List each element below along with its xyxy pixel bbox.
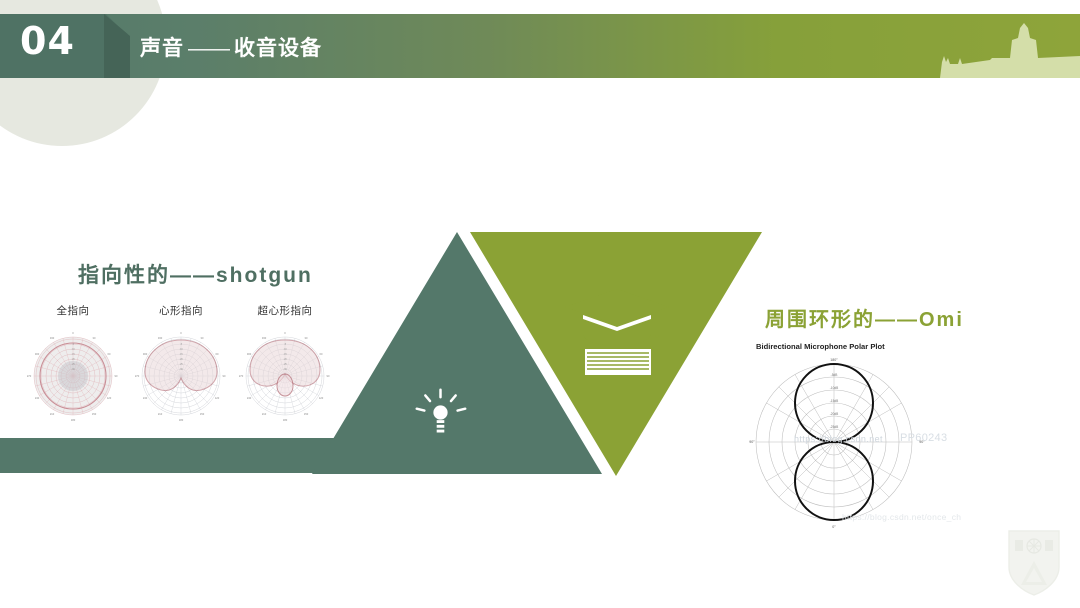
svg-text:90°: 90° (749, 440, 755, 444)
svg-text:300: 300 (35, 352, 40, 356)
svg-text:150: 150 (92, 412, 97, 416)
svg-text:-20dB: -20dB (830, 412, 839, 416)
svg-text:-15dB: -15dB (830, 399, 839, 403)
svg-text:240: 240 (35, 396, 40, 400)
svg-text:60: 60 (216, 352, 219, 356)
svg-text:330: 330 (50, 336, 55, 340)
svg-text:0: 0 (180, 331, 182, 335)
svg-text:0°: 0° (832, 525, 836, 529)
section-number: 04 (20, 19, 75, 63)
svg-text:180°: 180° (830, 358, 838, 362)
decorative-bar (0, 438, 345, 473)
left-heading: 指向性的——shotgun (78, 259, 313, 289)
svg-text:150: 150 (304, 412, 309, 416)
svg-text:60: 60 (320, 352, 323, 356)
polar-plot-cardioid: 心形指向 (126, 303, 236, 426)
svg-text:270: 270 (239, 374, 244, 378)
omnidirectional-polar-chart: 03060 90120150 180210240 270300330 -5-10… (21, 322, 125, 426)
university-shield-icon (1003, 527, 1065, 599)
svg-text:330: 330 (262, 336, 267, 340)
svg-text:-25dB: -25dB (830, 425, 839, 429)
svg-text:90: 90 (115, 374, 118, 378)
svg-text:0: 0 (72, 331, 74, 335)
svg-text:270: 270 (135, 374, 140, 378)
watermark-blog-url: https://blog.csdn.net/once_ch (842, 512, 961, 522)
svg-text:120: 120 (215, 396, 220, 400)
svg-text:120: 120 (107, 396, 112, 400)
bidirectional-chart-figure: Bidirectional Microphone Polar Plot 180°… (742, 342, 952, 537)
polar-plot-label: 全指向 (18, 303, 128, 318)
watermark-code: PP60243 (900, 432, 947, 444)
svg-text:30: 30 (201, 336, 204, 340)
svg-text:270: 270 (27, 374, 32, 378)
triangle-down-shape (470, 232, 762, 476)
svg-text:150: 150 (200, 412, 205, 416)
svg-text:210: 210 (158, 412, 163, 416)
polar-plot-label: 超心形指向 (230, 303, 340, 318)
svg-text:30: 30 (93, 336, 96, 340)
polar-plot-omnidirectional: 全指向 (18, 303, 128, 426)
svg-text:330: 330 (158, 336, 163, 340)
page-title-sub: 收音设备 (234, 37, 322, 60)
svg-text:-5dB: -5dB (831, 373, 838, 377)
svg-text:180: 180 (71, 418, 76, 422)
svg-text:120: 120 (319, 396, 324, 400)
svg-text:240: 240 (143, 396, 148, 400)
cardioid-polar-chart: 03060 90120150 180210240 270300330 -5-10… (129, 322, 233, 426)
svg-text:210: 210 (262, 412, 267, 416)
page-title: 声音——收音设备 (140, 32, 322, 62)
watermark-url: https://blog.csdn.net (794, 434, 883, 444)
svg-text:90: 90 (327, 374, 330, 378)
svg-text:210: 210 (50, 412, 55, 416)
page-title-dash: —— (184, 37, 234, 60)
svg-text:300: 300 (143, 352, 148, 356)
svg-text:180: 180 (179, 418, 184, 422)
svg-text:30: 30 (305, 336, 308, 340)
page-title-main: 声音 (140, 37, 184, 60)
svg-text:240: 240 (247, 396, 252, 400)
building-skyline-icon (880, 14, 1080, 78)
supercardioid-polar-chart: 03060 90120150 180210240 270300330 -5-10… (233, 322, 337, 426)
svg-text:90: 90 (223, 374, 226, 378)
bidirectional-polar-chart: 180° 0° 90° 90° -5dB-10dB-15dB -20dB-25d… (742, 354, 942, 534)
svg-text:300: 300 (247, 352, 252, 356)
svg-text:60: 60 (108, 352, 111, 356)
polar-plot-supercardioid: 超心形指向 (230, 303, 340, 426)
bidirectional-chart-title: Bidirectional Microphone Polar Plot (756, 342, 956, 351)
svg-text:180: 180 (283, 418, 288, 422)
polar-plot-label: 心形指向 (126, 303, 236, 318)
slide-canvas: 04 声音——收音设备 (0, 0, 1080, 608)
svg-text:0: 0 (284, 331, 286, 335)
right-heading: 周围环形的——Omi (765, 303, 964, 332)
svg-text:-10dB: -10dB (830, 386, 839, 390)
